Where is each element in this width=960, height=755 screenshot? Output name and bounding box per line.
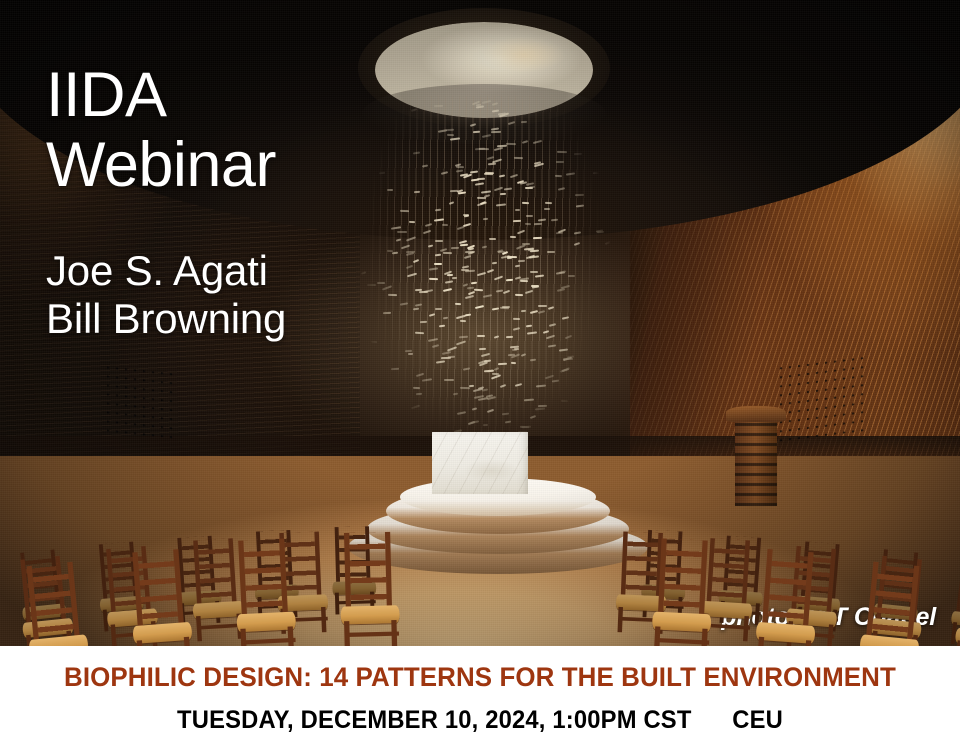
chair-back [132, 549, 184, 632]
page-title: IIDA Webinar [46, 60, 276, 200]
chair [20, 561, 92, 646]
chair [856, 561, 928, 646]
chair-legs [240, 627, 294, 646]
chair-back [866, 562, 920, 646]
speaker-names: Joe S. Agati Bill Browning [46, 247, 286, 343]
chair-legs [654, 627, 708, 646]
chair-back [238, 539, 288, 621]
chair [338, 532, 402, 646]
webinar-datetime: TUESDAY, DECEMBER 10, 2024, 1:00PM CST C… [24, 706, 936, 735]
chair [650, 538, 717, 646]
chair-back [344, 532, 392, 613]
caption-bar: BIOPHILIC DESIGN: 14 PATTERNS FOR THE BU… [0, 646, 960, 755]
chair-back [658, 539, 708, 621]
chapel-photo: IIDA Webinar Joe S. Agati Bill Browning … [0, 0, 960, 646]
bertoia-sculpture-plates [360, 100, 610, 460]
chair-legs [344, 620, 397, 646]
chair-ring [0, 416, 960, 646]
webinar-poster: IIDA Webinar Joe S. Agati Bill Browning … [0, 0, 960, 755]
chair [753, 548, 822, 646]
chair-back [762, 549, 814, 632]
chair [126, 548, 195, 646]
webinar-title: BIOPHILIC DESIGN: 14 PATTERNS FOR THE BU… [19, 662, 941, 693]
chair [232, 538, 299, 646]
chair-back [193, 538, 237, 609]
chair-back [26, 562, 80, 646]
